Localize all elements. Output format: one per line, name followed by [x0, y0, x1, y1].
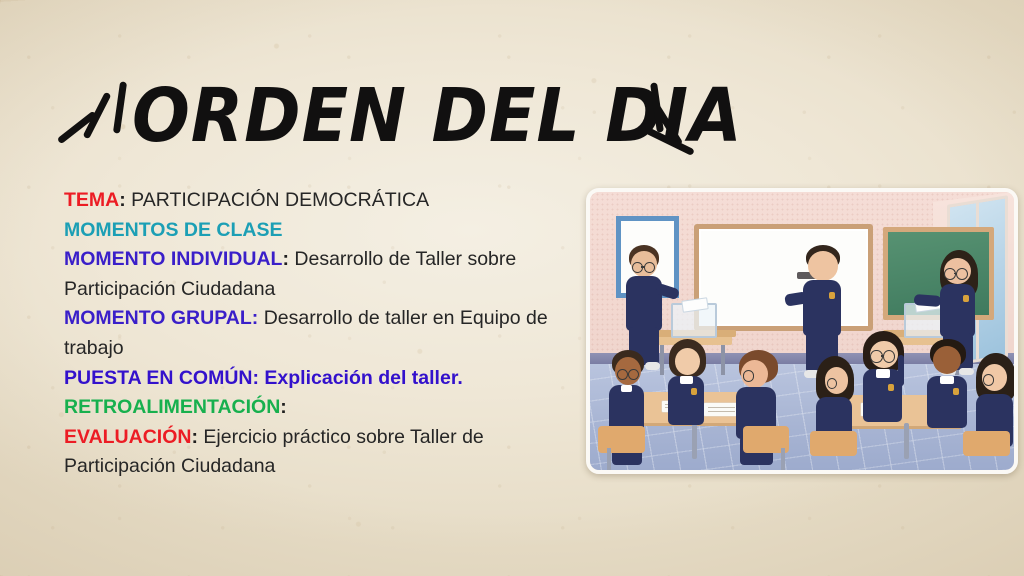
agenda-label-puesta: PUESTA EN COMÚN: — [64, 367, 259, 389]
agenda-line-momentos: MOMENTOS DE CLASE — [64, 216, 580, 246]
glasses-icon — [983, 374, 994, 385]
head — [675, 348, 700, 375]
ray-burst-left-icon — [58, 78, 142, 162]
ray-burst-right-icon — [612, 78, 696, 162]
chair-leg — [781, 448, 785, 470]
agenda-label-tema: TEMA — [64, 189, 119, 211]
uniform-badge — [691, 388, 697, 395]
uniform-badge — [829, 292, 835, 299]
glasses-icon — [743, 370, 755, 381]
agenda-line-grupal: MOMENTO GRUPAL: Desarrollo de taller en … — [64, 304, 580, 363]
agenda-line-puesta: PUESTA EN COMÚN: Explicación del taller. — [64, 364, 580, 394]
chair-leg — [607, 448, 611, 470]
uniform-badge — [888, 384, 894, 391]
glasses-icon — [956, 268, 967, 280]
agenda-label-evaluacion: EVALUACIÓN — [64, 426, 191, 448]
agenda-line-tema: TEMA: PARTICIPACIÓN DEMOCRÁTICA — [64, 186, 580, 216]
desk-leg — [721, 345, 725, 376]
student-seated-right-b — [857, 331, 921, 451]
agenda-line-individual: MOMENTO INDIVIDUAL: Desarrollo de Taller… — [64, 245, 580, 304]
chair — [598, 426, 645, 454]
head — [808, 251, 838, 280]
agenda-label-momentos: MOMENTOS DE CLASE — [64, 219, 283, 241]
glasses-icon — [628, 369, 639, 380]
uniform-badge — [953, 388, 959, 395]
agenda-label-grupal: MOMENTO GRUPAL: — [64, 307, 258, 329]
chair — [810, 431, 857, 456]
torso — [626, 276, 661, 331]
agenda-line-evaluacion: EVALUACIÓN: Ejercicio práctico sobre Tal… — [64, 423, 580, 482]
glasses-icon — [644, 262, 655, 273]
collar — [940, 376, 954, 384]
agenda-desc-tema: PARTICIPACIÓN DEMOCRÁTICA — [126, 189, 429, 211]
classroom-scene — [590, 192, 1014, 470]
arm-raised — [898, 355, 904, 386]
glasses-bridge — [954, 273, 957, 275]
agenda-label-individual: MOMENTO INDIVIDUAL — [64, 248, 282, 270]
title-block: ORDEN DEL DIA — [0, 74, 700, 170]
agenda-label-retro: RETROALIMENTACIÓN — [64, 396, 280, 418]
student-seated-left-b — [662, 339, 721, 450]
chair — [963, 431, 1010, 456]
glasses-bridge — [881, 355, 884, 357]
classroom-illustration — [586, 188, 1018, 474]
agenda-line-retro: RETROALIMENTACIÓN: — [64, 393, 580, 423]
glasses-icon — [870, 350, 882, 363]
head — [933, 346, 961, 374]
collar — [680, 376, 693, 384]
torso — [940, 284, 975, 337]
glasses-bridge — [641, 266, 644, 268]
collar — [876, 369, 890, 377]
uniform-badge — [963, 295, 969, 302]
agenda-sep-retro: : — [280, 396, 287, 418]
slide-canvas: ORDEN DEL DIA TEMA: PARTICIPACIÓN DEMOCR… — [0, 0, 1024, 576]
agenda-desc-puesta: Explicación del taller. — [259, 367, 463, 389]
agenda-list: TEMA: PARTICIPACIÓN DEMOCRÁTICA MOMENTOS… — [64, 186, 580, 482]
collar — [621, 385, 633, 392]
torso — [803, 280, 841, 336]
